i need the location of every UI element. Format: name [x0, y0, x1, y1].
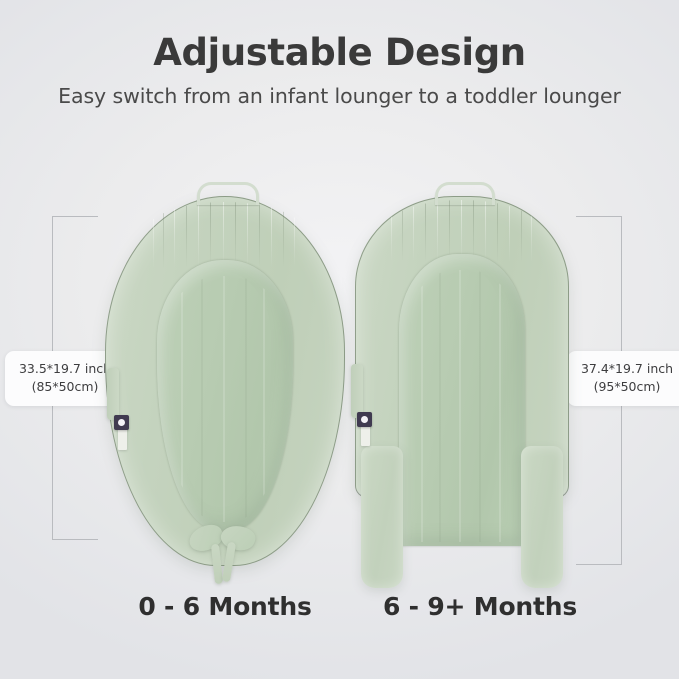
product-infant-lounger — [105, 196, 345, 566]
bracket-tick-bottom — [576, 564, 622, 565]
side-strap — [107, 368, 119, 420]
dimension-imperial-left: 33.5*19.7 inch — [19, 361, 111, 376]
brand-logo-tag — [357, 412, 372, 427]
product-toddler-lounger — [355, 196, 569, 588]
caption-toddler-lounger: 6 - 9+ Months — [330, 592, 630, 621]
bracket-tick-top — [576, 216, 622, 217]
carry-handle-icon — [435, 182, 495, 205]
page-title: Adjustable Design — [0, 34, 679, 73]
brand-logo-tag — [114, 415, 129, 430]
bolster-leg-right — [521, 446, 563, 588]
carry-handle-icon — [197, 182, 259, 205]
inner-mattress — [399, 254, 525, 546]
infographic-canvas: Adjustable Design Easy switch from an in… — [0, 0, 679, 679]
dimension-label-right: 37.4*19.7 inch (95*50cm) — [567, 351, 679, 406]
side-strap — [351, 364, 363, 418]
bolster-leg-left — [361, 446, 403, 588]
dimension-imperial-right: 37.4*19.7 inch — [581, 361, 673, 376]
header-block: Adjustable Design Easy switch from an in… — [0, 34, 679, 108]
bracket-tick-bottom — [52, 539, 98, 540]
dimension-metric-left: (85*50cm) — [13, 378, 117, 396]
dimension-metric-right: (95*50cm) — [575, 378, 679, 396]
bracket-tick-top — [52, 216, 98, 217]
page-subtitle: Easy switch from an infant lounger to a … — [0, 84, 679, 108]
